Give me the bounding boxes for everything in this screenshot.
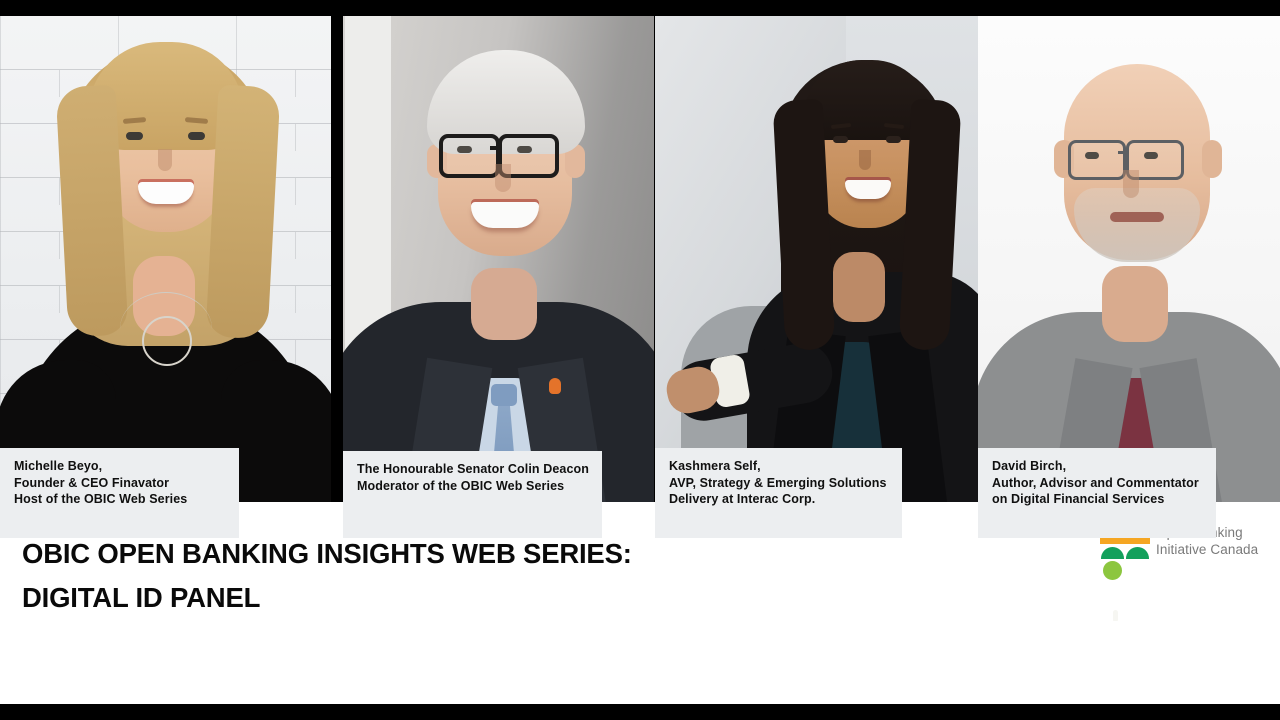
nose [1123, 170, 1139, 198]
nose [158, 149, 172, 171]
speaker-caption-david-birch: David Birch, Author, Advisor and Comment… [978, 448, 1216, 538]
neck [833, 252, 885, 322]
logo-green-dome-right-icon [1126, 547, 1149, 559]
eyeglasses-left-lens [439, 134, 500, 178]
speaker-panel-michelle-beyo [0, 16, 331, 502]
speaker-photo-michelle-beyo [0, 16, 331, 502]
smile [138, 182, 194, 204]
neck [471, 268, 537, 340]
speaker-photo-colin-deacon [343, 16, 654, 502]
letterbox-top [0, 0, 1280, 16]
speaker-photo-kashmera-self [655, 16, 978, 502]
mouth [1110, 212, 1164, 222]
speaker-caption-colin-deacon: The Honourable Senator Colin Deacon Mode… [343, 451, 602, 538]
ear-right [1202, 140, 1222, 178]
nose [495, 164, 511, 192]
eye-left [833, 136, 848, 143]
speaker-panel-colin-deacon [343, 16, 654, 502]
page-title: OBIC OPEN BANKING INSIGHTS WEB SERIES: D… [22, 532, 782, 620]
eye-left [126, 132, 143, 140]
letterbox-bottom [0, 704, 1280, 720]
logo-green-dome-left-icon [1101, 547, 1124, 559]
speaker-photo-strip: Michelle Beyo, Founder & CEO Finavator H… [0, 16, 1280, 502]
title-line-2: DIGITAL ID PANEL [22, 576, 782, 620]
eyeglasses-bridge [490, 146, 502, 150]
eye-right [886, 136, 901, 143]
nose [859, 150, 871, 170]
smile [471, 202, 539, 228]
logo-keyhole-icon [1113, 610, 1118, 621]
speaker-caption-kashmera-self: Kashmera Self, AVP, Strategy & Emerging … [655, 448, 902, 538]
title-line-1: OBIC OPEN BANKING INSIGHTS WEB SERIES: [22, 532, 782, 576]
speaker-panel-david-birch [978, 16, 1280, 502]
hair-strand-right [205, 85, 280, 340]
smile [845, 180, 891, 199]
logo-lock-circle-icon [1103, 561, 1122, 580]
eyeglasses-bridge [1118, 151, 1129, 154]
eyeglasses-left-lens [1068, 140, 1126, 180]
speaker-photo-david-birch [978, 16, 1280, 502]
eye-right [188, 132, 205, 140]
speaker-caption-michelle-beyo: Michelle Beyo, Founder & CEO Finavator H… [0, 448, 239, 538]
necklace-pendant [142, 316, 192, 366]
speaker-panel-kashmera-self [655, 16, 978, 502]
neck [1102, 266, 1168, 342]
video-frame: Michelle Beyo, Founder & CEO Finavator H… [0, 0, 1280, 720]
necktie-knot [491, 384, 517, 406]
lapel-pin [549, 378, 561, 394]
